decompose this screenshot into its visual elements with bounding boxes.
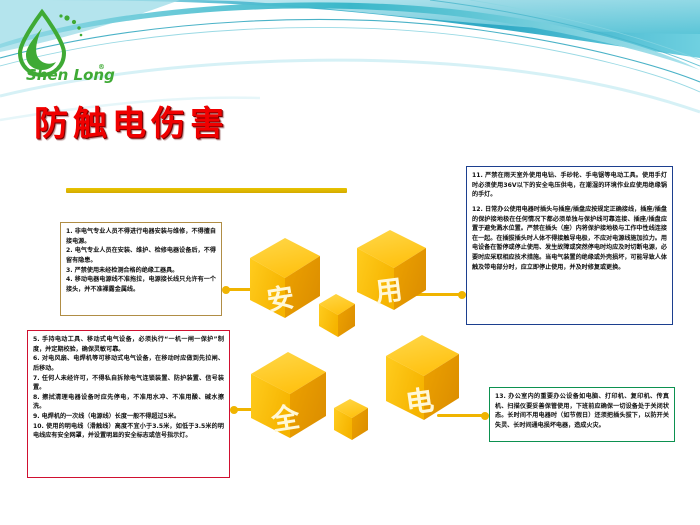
rule-line: 10. 使用的明电线（滑触线）高度不宜小于3.5米，如低于3.5米的明电线应有安… — [33, 422, 224, 441]
rules-box-a: 1. 非电气专业人员不得进行电器安装与维修，不得擅自接电源。 2. 电气专业人员… — [60, 222, 222, 316]
cube-small-center — [319, 294, 355, 337]
cube-dian: 电 — [386, 335, 459, 420]
rules-box-d: 13. 办公室内的重要办公设备如电脑、打印机、复印机、传真机、扫描仪要妥善保管使… — [489, 387, 675, 442]
rule-line: 7. 任何人未经许可，不得私自拆除电气连锁装置、防护装置、信号装置。 — [33, 374, 224, 393]
connector-dot-box-a — [222, 286, 230, 294]
cube-label-an: 安 — [265, 282, 297, 317]
rule-line: 5. 手持电动工具、移动式电气设备，必须执行“一机一闸一保护”制度，并定期校验，… — [33, 335, 224, 354]
rule-line: 6. 对电风扇、电焊机等可移动式电气设备，在移动时应做到先拉闸、后移动。 — [33, 354, 224, 373]
rule-line: 4. 移动电器电源线不准拖拉，电源接长线只允许有一个接头，并不准裸露金属线。 — [66, 275, 216, 294]
rule-line: 8. 擦拭清理电器设备时应先停电，不准用水冲、不准用酸、碱水擦洗。 — [33, 393, 224, 412]
rule-line: 11. 严禁在雨天室外使用电钻、手砂轮、手电锯等电动工具。使用手灯时必须使用36… — [472, 171, 667, 200]
connector-dot-box-b — [230, 406, 238, 414]
rule-line: 13. 办公室内的重要办公设备如电脑、打印机、复印机、传真机、扫描仪要妥善保管使… — [495, 392, 669, 431]
title-underline-divider — [66, 188, 347, 193]
connector-dot-box-d — [481, 412, 489, 420]
brand-logo: Shen Long ® — [12, 8, 104, 86]
page-title: 防触电伤害 — [34, 96, 229, 145]
cube-small-bottom — [334, 399, 368, 440]
rule-line: 3. 严禁使用未经检测合格的绝缘工器具。 — [66, 266, 216, 276]
cube-label-dian: 电 — [404, 383, 436, 420]
rule-line: 9. 电焊机的一次线（电源线）长度一般不得超过5米。 — [33, 412, 224, 422]
rule-line: 12. 日常办公使用电器时插头与插座/插盘应按规定正确接线，插座/插盘的保护接地… — [472, 205, 667, 272]
slide-canvas: Shen Long ® 防触电伤害 — [0, 0, 700, 525]
cube-quan: 全 — [251, 352, 326, 438]
rule-line: 1. 非电气专业人员不得进行电器安装与维修，不得擅自接电源。 — [66, 227, 216, 246]
rules-box-b: 5. 手持电动工具、移动式电气设备，必须执行“一机一闸一保护”制度，并定期校验，… — [27, 330, 230, 478]
cube-an: 安 — [250, 238, 320, 318]
cube-label-yong: 用 — [374, 275, 405, 309]
rule-line: 2. 电气专业人员在安装、维护、检修电器设备后，不得留有隐患。 — [66, 246, 216, 265]
registered-trademark-icon: ® — [98, 63, 105, 71]
cube-yong: 用 — [357, 230, 426, 310]
rules-box-c: 11. 严禁在雨天室外使用电钻、手砂轮、手电锯等电动工具。使用手灯时必须使用36… — [466, 166, 673, 325]
isometric-cube-cluster: 安 用 全 — [238, 222, 463, 442]
